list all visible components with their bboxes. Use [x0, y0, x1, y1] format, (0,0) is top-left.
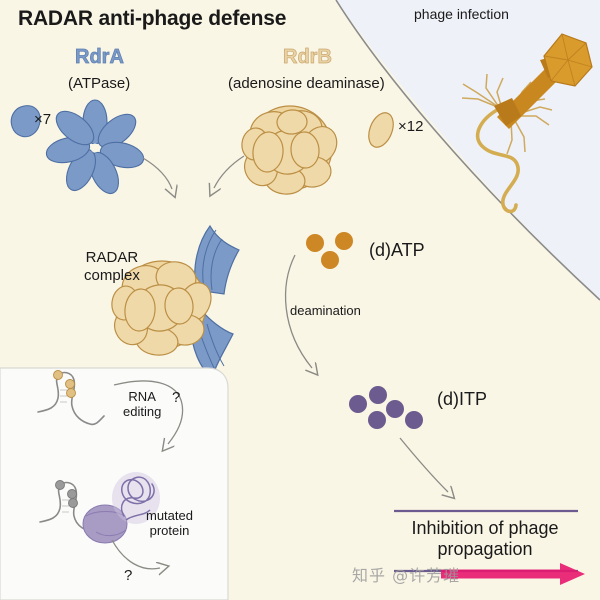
deamination-label: deamination	[290, 303, 361, 318]
question-mark-rna-editing: ?	[172, 389, 180, 407]
inhibition-conclusion: Inhibition of phage propagation	[399, 518, 571, 560]
watermark-text: 知乎 @许芳璀	[352, 567, 460, 586]
inhibition-line1: Inhibition of phage	[399, 518, 571, 539]
watermark-arrow	[441, 563, 585, 585]
question-mark-outcome: ?	[124, 567, 132, 585]
rdrb-subtitle: (adenosine deaminase)	[228, 75, 385, 93]
rdra-subtitle: (ATPase)	[68, 75, 130, 93]
rdra-multiplicity-label: ×7	[34, 111, 51, 129]
rdrb-label: RdrB	[283, 46, 332, 70]
ditp-label: (d)ITP	[437, 389, 487, 410]
rna-editing-label: RNA editing	[123, 389, 161, 420]
datp-label: (d)ATP	[369, 240, 425, 261]
inhibition-line2: propagation	[399, 539, 571, 560]
rdra-label: RdrA	[75, 46, 124, 70]
figure-canvas: RADAR anti-phage defense RdrA (ATPase) ×…	[0, 0, 600, 600]
mutated-line2: protein	[146, 523, 193, 538]
radar-complex-label: RADAR complex	[84, 249, 140, 284]
page-title: RADAR anti-phage defense	[18, 7, 286, 32]
mutated-line1: mutated	[146, 508, 193, 523]
phage-infection-label: phage infection	[414, 6, 509, 23]
radar-complex-line1: RADAR	[84, 249, 140, 267]
rna-editing-line1: RNA	[123, 389, 161, 404]
radar-complex-line2: complex	[84, 267, 140, 285]
rna-editing-line2: editing	[123, 404, 161, 419]
rdrb-multiplicity-label: ×12	[398, 118, 423, 136]
mutated-protein-label: mutated protein	[146, 508, 193, 539]
